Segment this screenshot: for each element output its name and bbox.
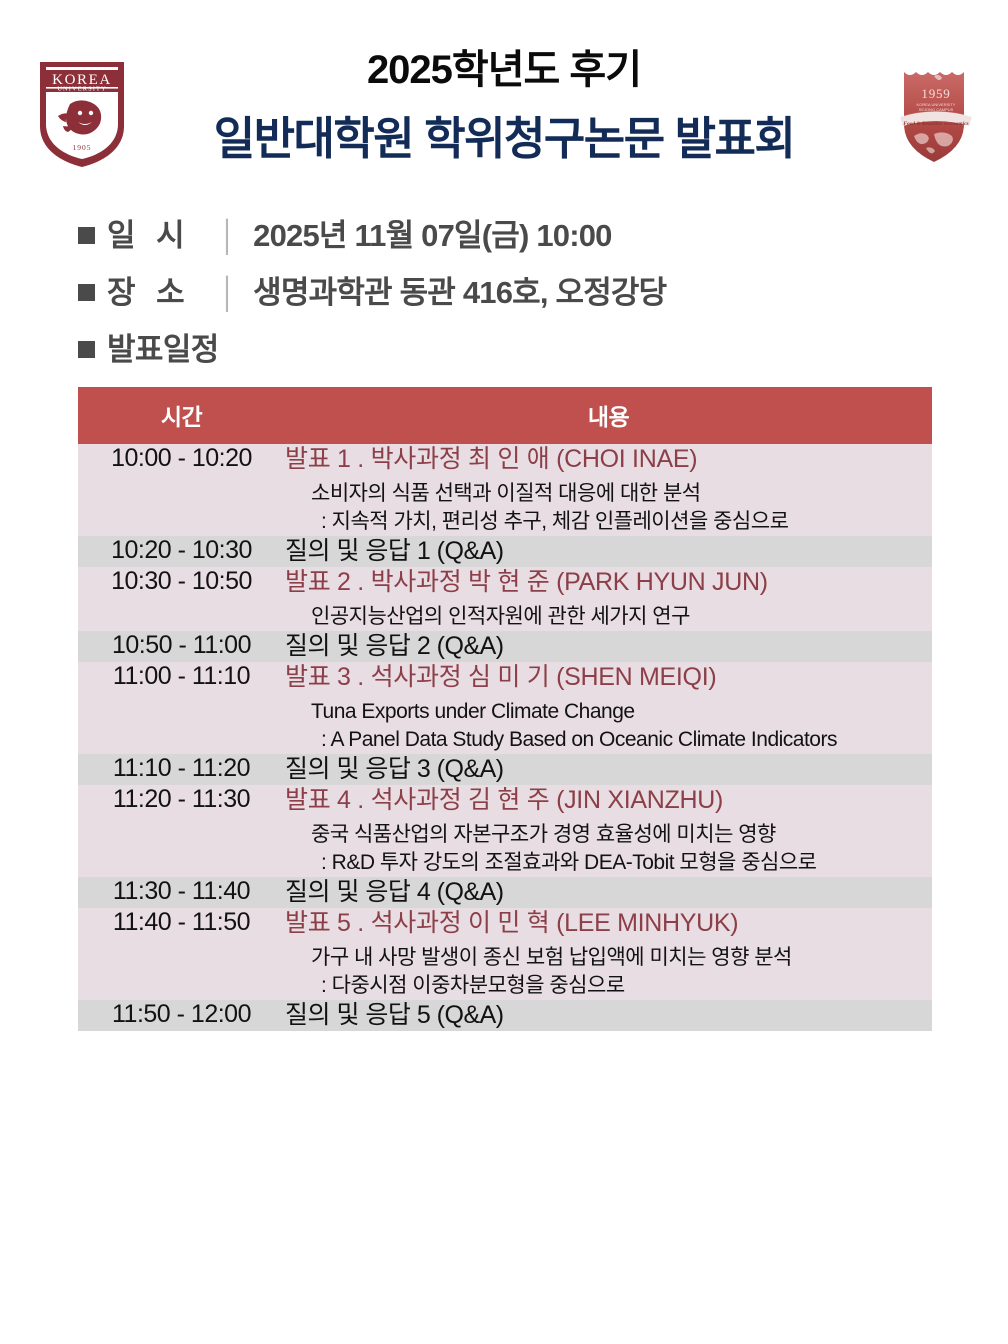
cell-time: 11:00 - 11:10 xyxy=(78,662,285,754)
thesis-title-line-2: : R&D 투자 강도의 조절효과와 DEA-Tobit 모형을 중심으로 xyxy=(311,849,932,877)
cell-content: 발표 5 . 석사과정 이 민 혁 (LEE MINHYUK)가구 내 사망 발… xyxy=(285,908,932,1000)
svg-text:1905: 1905 xyxy=(73,143,92,152)
cell-time: 11:50 - 12:00 xyxy=(78,1000,285,1031)
column-header-content: 내용 xyxy=(285,387,932,444)
department-emblem-logo: 1959 KOREA UNIVERSITY SEJONG CAMPUS Food… xyxy=(890,62,982,170)
square-bullet-icon xyxy=(78,227,95,244)
svg-text:1959: 1959 xyxy=(921,86,950,101)
table-row: 11:20 - 11:30발표 4 . 석사과정 김 현 주 (JIN XIAN… xyxy=(78,785,932,877)
event-info-block: 일 시 │ 2025년 11월 07일(금) 10:00 장 소 │ 생명과학관… xyxy=(0,210,1008,369)
thesis-title-line-1: Tuna Exports under Climate Change xyxy=(311,698,932,726)
qa-line: 질의 및 응답 2 (Q&A) xyxy=(285,631,932,662)
thesis-title-line-1: 중국 식품산업의 자본구조가 경영 효율성에 미치는 영향 xyxy=(311,821,932,849)
table-header-row: 시간 내용 xyxy=(78,387,932,444)
thesis-title-line-1: 소비자의 식품 선택과 이질적 대응에 대한 분석 xyxy=(311,480,932,508)
thesis-title-block: 가구 내 사망 발생이 종신 보험 납입액에 미치는 영향 분석: 다중시점 이… xyxy=(285,944,932,999)
table-row: 11:40 - 11:50발표 5 . 석사과정 이 민 혁 (LEE MINH… xyxy=(78,908,932,1000)
schedule-table-body: 10:00 - 10:20발표 1 . 박사과정 최 인 애 (CHOI INA… xyxy=(78,444,932,1031)
schedule-heading-label: 발표일정 xyxy=(107,324,219,369)
cell-time: 10:50 - 11:00 xyxy=(78,631,285,662)
qa-line: 질의 및 응답 4 (Q&A) xyxy=(285,877,932,908)
qa-line: 질의 및 응답 5 (Q&A) xyxy=(285,1000,932,1031)
cell-content: 질의 및 응답 3 (Q&A) xyxy=(285,754,932,785)
svg-text:Food & Resource Economics: Food & Resource Economics xyxy=(903,121,968,127)
cell-content: 발표 3 . 석사과정 심 미 기 (SHEN MEIQI)Tuna Expor… xyxy=(285,662,932,754)
cell-time: 10:30 - 10:50 xyxy=(78,567,285,631)
info-row-datetime: 일 시 │ 2025년 11월 07일(금) 10:00 xyxy=(78,210,1008,255)
cell-content: 질의 및 응답 5 (Q&A) xyxy=(285,1000,932,1031)
info-label-location: 장 소 xyxy=(107,267,219,312)
table-row: 10:50 - 11:00질의 및 응답 2 (Q&A) xyxy=(78,631,932,662)
info-row-schedule-heading: 발표일정 xyxy=(78,324,1008,369)
cell-time: 11:40 - 11:50 xyxy=(78,908,285,1000)
poster-header: KOREA UNIVERSITY 1905 2025학년도 후기 일반대학원 학… xyxy=(0,0,1008,200)
cell-time: 11:20 - 11:30 xyxy=(78,785,285,877)
thesis-title-block: 소비자의 식품 선택과 이질적 대응에 대한 분석: 지속적 가치, 편리성 추… xyxy=(285,480,932,535)
table-row: 11:00 - 11:10발표 3 . 석사과정 심 미 기 (SHEN MEI… xyxy=(78,662,932,754)
poster-title-group: 2025학년도 후기 일반대학원 학위청구논문 발표회 xyxy=(150,46,858,166)
thesis-title-block: 중국 식품산업의 자본구조가 경영 효율성에 미치는 영향: R&D 투자 강도… xyxy=(285,821,932,876)
column-header-time: 시간 xyxy=(78,387,285,444)
qa-line: 질의 및 응답 1 (Q&A) xyxy=(285,536,932,567)
presenter-line: 발표 1 . 박사과정 최 인 애 (CHOI INAE) xyxy=(285,444,932,475)
poster-subtitle-year: 2025학년도 후기 xyxy=(150,46,858,94)
square-bullet-icon xyxy=(78,284,95,301)
table-row: 10:00 - 10:20발표 1 . 박사과정 최 인 애 (CHOI INA… xyxy=(78,444,932,536)
thesis-title-line-1: 가구 내 사망 발생이 종신 보험 납입액에 미치는 영향 분석 xyxy=(311,944,932,972)
info-separator-icon: │ xyxy=(219,277,237,311)
info-separator-icon: │ xyxy=(219,220,237,254)
info-label-datetime: 일 시 xyxy=(107,210,219,255)
svg-text:SEJONG CAMPUS: SEJONG CAMPUS xyxy=(919,107,954,112)
cell-content: 질의 및 응답 1 (Q&A) xyxy=(285,536,932,567)
cell-content: 발표 2 . 박사과정 박 현 준 (PARK HYUN JUN)인공지능산업의… xyxy=(285,567,932,631)
table-row: 11:30 - 11:40질의 및 응답 4 (Q&A) xyxy=(78,877,932,908)
svg-text:UNIVERSITY: UNIVERSITY xyxy=(57,86,106,93)
thesis-title-block: Tuna Exports under Climate Change: A Pan… xyxy=(285,698,932,753)
cell-content: 질의 및 응답 4 (Q&A) xyxy=(285,877,932,908)
info-value-datetime: 2025년 11월 07일(금) 10:00 xyxy=(253,210,611,255)
thesis-title-line-2: : 다중시점 이중차분모형을 중심으로 xyxy=(311,972,932,1000)
presenter-line: 발표 4 . 석사과정 김 현 주 (JIN XIANZHU) xyxy=(285,785,932,816)
presenter-line: 발표 5 . 석사과정 이 민 혁 (LEE MINHYUK) xyxy=(285,908,932,939)
poster-main-title: 일반대학원 학위청구논문 발표회 xyxy=(150,112,858,166)
table-row: 11:10 - 11:20질의 및 응답 3 (Q&A) xyxy=(78,754,932,785)
table-row: 11:50 - 12:00질의 및 응답 5 (Q&A) xyxy=(78,1000,932,1031)
cell-time: 10:20 - 10:30 xyxy=(78,536,285,567)
info-value-location: 생명과학관 동관 416호, 오정강당 xyxy=(253,267,666,312)
cell-time: 11:10 - 11:20 xyxy=(78,754,285,785)
info-row-location: 장 소 │ 생명과학관 동관 416호, 오정강당 xyxy=(78,267,1008,312)
cell-content: 질의 및 응답 2 (Q&A) xyxy=(285,631,932,662)
cell-time: 10:00 - 10:20 xyxy=(78,444,285,536)
presenter-line: 발표 2 . 박사과정 박 현 준 (PARK HYUN JUN) xyxy=(285,567,932,598)
cell-time: 11:30 - 11:40 xyxy=(78,877,285,908)
table-row: 10:30 - 10:50발표 2 . 박사과정 박 현 준 (PARK HYU… xyxy=(78,567,932,631)
cell-content: 발표 4 . 석사과정 김 현 주 (JIN XIANZHU)중국 식품산업의 … xyxy=(285,785,932,877)
thesis-title-line-1: 인공지능산업의 인적자원에 관한 세가지 연구 xyxy=(311,603,932,631)
table-row: 10:20 - 10:30질의 및 응답 1 (Q&A) xyxy=(78,536,932,567)
qa-line: 질의 및 응답 3 (Q&A) xyxy=(285,754,932,785)
thesis-title-line-2: : 지속적 가치, 편리성 추구, 체감 인플레이션을 중심으로 xyxy=(311,508,932,536)
thesis-title-line-2: : A Panel Data Study Based on Oceanic Cl… xyxy=(311,726,932,754)
thesis-title-block: 인공지능산업의 인적자원에 관한 세가지 연구 xyxy=(285,603,932,631)
korea-university-logo: KOREA UNIVERSITY 1905 xyxy=(34,58,130,170)
schedule-table: 시간 내용 10:00 - 10:20발표 1 . 박사과정 최 인 애 (CH… xyxy=(78,387,932,1031)
square-bullet-icon xyxy=(78,341,95,358)
presenter-line: 발표 3 . 석사과정 심 미 기 (SHEN MEIQI) xyxy=(285,662,932,693)
cell-content: 발표 1 . 박사과정 최 인 애 (CHOI INAE)소비자의 식품 선택과… xyxy=(285,444,932,536)
